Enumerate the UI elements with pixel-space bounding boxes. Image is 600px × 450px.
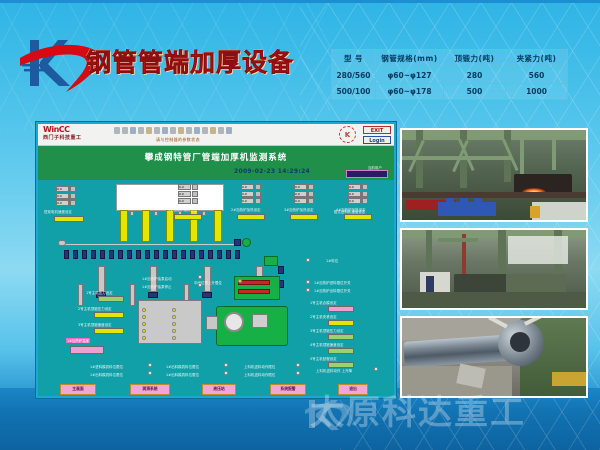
sensor-label-6: 上料机送料动作限位 — [244, 372, 275, 377]
hmi-screen-title: 攀成钢特管厂管端加厚机监测系统 — [145, 151, 288, 163]
station2-unit-3 — [255, 198, 261, 204]
station3-row-1[interactable]: 0.0 — [294, 184, 314, 190]
roller-14 — [181, 250, 186, 259]
cell-pipe-1: φ60~φ127 — [376, 68, 444, 84]
station2-val-2[interactable]: 0.0 — [241, 191, 254, 197]
hmi-screen-title-band: 攀成钢特管厂管端加厚机监测系统 — [38, 146, 394, 167]
valve-3 — [202, 292, 212, 298]
cell-upset-1: 280 — [444, 68, 506, 84]
heater-row-lamp-1[interactable] — [198, 275, 202, 279]
left-param-value-3[interactable]: 0.0 — [56, 200, 69, 206]
heater-lamp-5[interactable] — [142, 336, 146, 340]
wincc-logo-subtext: 西门子科技重工 — [43, 134, 109, 141]
hmi-toolbar[interactable] — [114, 127, 232, 134]
toolbar-icon-help[interactable] — [226, 127, 232, 134]
table-row: 280/560 φ60~φ127 280 560 — [332, 68, 568, 84]
photo2-control-cabinet — [420, 272, 450, 294]
roller-bank-row — [64, 250, 240, 259]
heater-column-5 — [214, 210, 222, 242]
station4-val-3[interactable]: 0.0 — [348, 198, 361, 204]
rotary-table-icon — [224, 312, 244, 332]
left-param-unit-1 — [70, 186, 76, 192]
station1-row-2[interactable]: 0.0 — [178, 191, 198, 197]
right-indicator-2: 1#加热炉出料限位开关 — [314, 288, 351, 293]
right-indicator-label: 1#料位 — [326, 258, 338, 263]
roller-5 — [100, 250, 105, 259]
wincc-logo-text: WinCC — [43, 125, 109, 134]
valve-block-icon — [264, 256, 278, 266]
furnace-temp-label: 1#加热炉温度 — [66, 338, 90, 343]
station3-unit-2 — [308, 191, 314, 197]
roller-3 — [82, 250, 87, 259]
photo1-yellow-marker — [530, 206, 540, 218]
photo3-die-bore — [510, 332, 530, 352]
hmi-titlebar: WinCC 西门子科技重工 请与控制器的参数状态 K EXIT Login — [38, 124, 394, 146]
ram-cylinder-5 — [78, 284, 83, 306]
photo1-blue-valve-1 — [446, 198, 454, 206]
ram-cylinder-1 — [98, 266, 105, 292]
hydraulic-line-1 — [238, 280, 270, 285]
heater-lamp-9[interactable] — [172, 329, 176, 333]
spec-header-model: 型 号 — [332, 50, 376, 68]
roller-20 — [235, 250, 240, 259]
toolbar-icon-zoom[interactable] — [178, 127, 184, 134]
machine-param-value-1[interactable] — [98, 296, 124, 302]
wincc-logo: WinCC 西门子科技重工 — [43, 125, 109, 141]
drive-motor-icon — [242, 238, 251, 247]
cell-clamp-2: 1000 — [506, 84, 568, 100]
hmi-nav-button-main[interactable]: 主画面 — [60, 384, 96, 395]
valve-4 — [278, 266, 284, 274]
station3-title: 3#加热炉加热设定 — [284, 207, 314, 212]
roller-17 — [208, 250, 213, 259]
exit-button[interactable]: EXIT — [363, 126, 391, 134]
station1-val-3[interactable]: 0.0 — [178, 198, 191, 204]
left-param-unit-2 — [70, 193, 76, 199]
station1-val-1[interactable]: 0.0 — [178, 184, 191, 190]
spec-header-upset: 顶锻力(吨) — [444, 50, 506, 68]
header: 钢管管端加厚设备 — [0, 38, 340, 94]
photo1-white-cabinet — [532, 202, 588, 220]
hmi-session-buttons[interactable]: EXIT Login — [363, 126, 391, 146]
hmi-nav-button-hydraulic[interactable]: 液压站 — [202, 384, 236, 395]
heater-row-label-2: 1#加热炉油泵停止 — [142, 284, 172, 289]
station3-row-2[interactable]: 0.0 — [294, 191, 314, 197]
roller-6 — [109, 250, 114, 259]
left-param-value-2[interactable]: 0.0 — [56, 193, 69, 199]
station3-unit-3 — [308, 198, 314, 204]
control-box-icon — [252, 314, 268, 328]
toolbar-icon-open[interactable] — [114, 127, 120, 134]
roller-12 — [163, 250, 168, 259]
station4-unit-3 — [362, 198, 368, 204]
nozzle-2 — [154, 211, 158, 216]
station2-row-1[interactable]: 0.0 — [241, 184, 261, 190]
station4-unit-2 — [362, 191, 368, 197]
roller-7 — [118, 250, 123, 259]
station1-unit-3 — [192, 198, 198, 204]
photo2-floor — [402, 292, 588, 310]
machine-param-value-3[interactable] — [94, 328, 124, 334]
station3-val-3[interactable]: 0.0 — [294, 198, 307, 204]
watermark-text: 太原科达重工 — [310, 385, 526, 434]
photo2-cross-pipe — [438, 238, 478, 242]
heater-control-panel — [138, 300, 202, 344]
cell-model-1: 280/560 — [332, 68, 376, 84]
left-group-title: 扭矩电机速度设定 — [44, 209, 72, 214]
station4-unit-1 — [362, 184, 368, 190]
toolbar-icon-layer[interactable] — [202, 127, 208, 134]
hmi-screenshot-panel: WinCC 西门子科技重工 请与控制器的参数状态 K EXIT Login — [36, 122, 396, 398]
right-param-label-2: 2号主机夹紧设定 — [310, 314, 337, 319]
sensor-label-5: 上料机送料动作限位 — [244, 364, 275, 369]
sensor-lamp-7[interactable] — [374, 367, 378, 371]
right-param-label-4: 4号主机顶锻速度设定 — [310, 342, 344, 347]
heater-lamp-10[interactable] — [172, 336, 176, 340]
roller-10 — [145, 250, 150, 259]
toolbar-icon-undo[interactable] — [162, 127, 168, 134]
workshop-gantry-photo — [400, 128, 588, 222]
heater-lamp-6[interactable] — [172, 308, 176, 312]
roller-9 — [136, 250, 141, 259]
toolbar-icon-grid[interactable] — [186, 127, 192, 134]
roller-18 — [217, 250, 222, 259]
login-button[interactable]: Login — [363, 136, 391, 144]
sensor-lamp-4[interactable] — [224, 371, 228, 375]
station1-value[interactable] — [174, 214, 202, 220]
photo1-roller-table — [402, 192, 588, 198]
photo1-blue-valve-2 — [460, 198, 468, 206]
hmi-datebar: 2009-02-23 14:29:24 当前用户 — [38, 167, 394, 180]
heater-lamp-1[interactable] — [142, 308, 146, 312]
right-param-value-2[interactable] — [328, 320, 354, 326]
company-seal-icon: K — [339, 126, 356, 143]
roller-8 — [127, 250, 132, 259]
conveyor-rail — [64, 243, 239, 246]
photo2-machine-bed — [506, 274, 566, 292]
station3-value[interactable] — [290, 214, 318, 220]
heater-column-1 — [120, 210, 128, 242]
station4-val-1[interactable]: 0.0 — [348, 184, 361, 190]
photo1-roof-beam — [402, 130, 588, 140]
heater-lamp-2[interactable] — [142, 315, 146, 319]
right-group-title: 辊式进料机速度设定 — [334, 209, 365, 214]
spec-table: 型 号 钢管规格(mm) 顶锻力(吨) 夹紧力(吨) 280/560 φ60~φ… — [331, 49, 568, 100]
station4-val-2[interactable]: 0.0 — [348, 191, 361, 197]
sensor-label-1: 1#进料模具料位限位 — [90, 364, 123, 369]
left-param-row-2[interactable]: 0.0 — [56, 193, 76, 199]
spec-table-header-row: 型 号 钢管规格(mm) 顶锻力(吨) 夹紧力(吨) — [332, 50, 568, 68]
roller-15 — [190, 250, 195, 259]
cell-pipe-2: φ60~φ178 — [376, 84, 444, 100]
heater-lamp-7[interactable] — [172, 315, 176, 319]
toolbar-icon-cut[interactable] — [138, 127, 144, 134]
cell-clamp-1: 560 — [506, 68, 568, 84]
roller-13 — [172, 250, 177, 259]
valve-2 — [148, 292, 158, 298]
right-param-label-1: 1号主机合模设定 — [310, 300, 337, 305]
right-indicator-1: 1#加热炉进料限位开关 — [314, 280, 351, 285]
toolbar-icon-print[interactable] — [130, 127, 136, 134]
toolbar-icon-paste[interactable] — [154, 127, 160, 134]
left-param-unit-3 — [70, 200, 76, 206]
sensor-lamp-1[interactable] — [148, 363, 152, 367]
ram-cylinder-6 — [130, 284, 135, 306]
toolbar-icon-stop[interactable] — [218, 127, 224, 134]
station3-unit-1 — [308, 184, 314, 190]
toolbar-note: 请与控制器的参数状态 — [156, 137, 200, 143]
toolbar-icon-copy[interactable] — [146, 127, 152, 134]
station2-unit-2 — [255, 191, 261, 197]
station2-unit-1 — [255, 184, 261, 190]
heater-column-3 — [166, 210, 174, 242]
roller-4 — [91, 250, 96, 259]
heater-lamp-3[interactable] — [142, 322, 146, 326]
station4-row-1[interactable]: 0.0 — [348, 184, 368, 190]
roller-1 — [64, 250, 69, 259]
cell-model-2: 500/100 — [332, 84, 376, 100]
machine-param-label-3: 3号主机顶锻速度设定 — [78, 322, 112, 327]
workshop-press-photo — [400, 228, 588, 310]
station3-row-3[interactable]: 0.0 — [294, 198, 314, 204]
machine-param-label-1: 1号主机压力设定 — [86, 290, 113, 295]
cell-upset-2: 500 — [444, 84, 506, 100]
toolbar-icon-align[interactable] — [194, 127, 200, 134]
furnace-temp-value — [70, 346, 104, 354]
photo2-press-body — [454, 274, 510, 294]
station4-value[interactable] — [344, 214, 372, 220]
photo3-yellow-part — [552, 372, 588, 386]
sensor-lamp-5[interactable] — [296, 363, 300, 367]
spec-header-pipe: 钢管规格(mm) — [376, 50, 444, 68]
hydraulic-line-2 — [238, 289, 270, 294]
indicator-lamp-out[interactable] — [306, 288, 310, 292]
ram-cylinder-3 — [204, 266, 211, 292]
left-param-row-3[interactable]: 0.0 — [56, 200, 76, 206]
sensor-label-7: 上料机送料动作 上升降 — [316, 368, 352, 373]
left-param-value-1[interactable]: 0.0 — [56, 186, 69, 192]
photo2-bright-window — [508, 236, 568, 264]
sensor-label-4: 1#出料模具料位限位 — [166, 372, 199, 377]
sensor-label-2: 1#出料模具料位限位 — [90, 372, 123, 377]
right-param-value-4[interactable] — [328, 348, 354, 354]
hmi-nav-button-alarm[interactable]: 系统报警 — [270, 384, 306, 395]
heater-lamp-8[interactable] — [172, 322, 176, 326]
hmi-user-field[interactable] — [346, 170, 388, 178]
upsetting-machine-head — [206, 316, 218, 330]
sensor-label-3: 1#出料模具料位限位 — [166, 364, 199, 369]
indicator-lamp-main[interactable] — [306, 258, 310, 262]
left-group-value[interactable] — [54, 216, 84, 222]
indicator-lamp-in[interactable] — [306, 280, 310, 284]
roller-11 — [154, 250, 159, 259]
machine-param-label-2: 2号主机顶锻压力设定 — [78, 306, 112, 311]
toolbar-icon-redo[interactable] — [170, 127, 176, 134]
hmi-mimic-diagram: 0.0 0.0 0.0 扭矩电机速度设定 — [38, 180, 394, 398]
conveyor-roller-left — [58, 240, 66, 246]
page-title: 钢管管端加厚设备 — [86, 43, 294, 79]
station1-unit-1 — [192, 184, 198, 190]
right-param-value-3[interactable] — [328, 334, 354, 340]
station2-title: 2#加热炉加热设定 — [231, 207, 261, 212]
heater-lamp-4[interactable] — [142, 329, 146, 333]
heater-row-label-1: 1#加热炉油泵启动 — [142, 276, 172, 281]
machine-param-value-2[interactable] — [94, 312, 124, 318]
roller-19 — [226, 250, 231, 259]
photo1-blue-valve-3 — [474, 198, 482, 206]
station1-title: 1#加热炉加热设定 — [168, 207, 198, 212]
station3-val-2[interactable]: 0.0 — [294, 191, 307, 197]
heater-column-2 — [142, 210, 150, 242]
sensor-lamp-3[interactable] — [224, 363, 228, 367]
station1-val-2[interactable]: 0.0 — [178, 191, 191, 197]
station1-row-1[interactable]: 0.0 — [178, 184, 198, 190]
right-param-value-1[interactable] — [328, 306, 354, 312]
left-param-row-1[interactable]: 0.0 — [56, 186, 76, 192]
hmi-datetime: 2009-02-23 14:29:24 — [234, 168, 310, 175]
station2-value[interactable] — [237, 214, 265, 220]
center-switch-lamp[interactable] — [238, 279, 242, 283]
sensor-lamp-2[interactable] — [148, 371, 152, 375]
sensor-lamp-6[interactable] — [296, 371, 300, 375]
station1-row-3[interactable]: 0.0 — [178, 198, 198, 204]
top-divider-line — [0, 0, 600, 3]
table-row: 500/100 φ60~φ178 500 1000 — [332, 84, 568, 100]
gearbox-icon — [234, 239, 241, 246]
toolbar-icon-run[interactable] — [210, 127, 216, 134]
station2-row-3[interactable]: 0.0 — [241, 198, 261, 204]
station4-row-2[interactable]: 0.0 — [348, 191, 368, 197]
nozzle-1 — [130, 211, 134, 216]
station2-val-1[interactable]: 0.0 — [241, 184, 254, 190]
roller-2 — [73, 250, 78, 259]
station3-val-1[interactable]: 0.0 — [294, 184, 307, 190]
roller-16 — [199, 250, 204, 259]
station1-unit-2 — [192, 191, 198, 197]
station4-row-3[interactable]: 0.0 — [348, 198, 368, 204]
heater-row-lamp-2[interactable] — [198, 283, 202, 287]
toolbar-icon-save[interactable] — [122, 127, 128, 134]
right-param-label-3: 3号主机顶锻压力设定 — [310, 328, 344, 333]
station2-row-2[interactable]: 0.0 — [241, 191, 261, 197]
spec-header-clamp: 夹紧力(吨) — [506, 50, 568, 68]
hmi-nav-button-lube[interactable]: 润滑系统 — [130, 384, 170, 395]
station2-val-3[interactable]: 0.0 — [241, 198, 254, 204]
right-param-label-5: 5号主机回程设定 — [310, 356, 337, 361]
nozzle-4 — [202, 211, 206, 216]
photo1-pipe-riser — [552, 136, 556, 170]
